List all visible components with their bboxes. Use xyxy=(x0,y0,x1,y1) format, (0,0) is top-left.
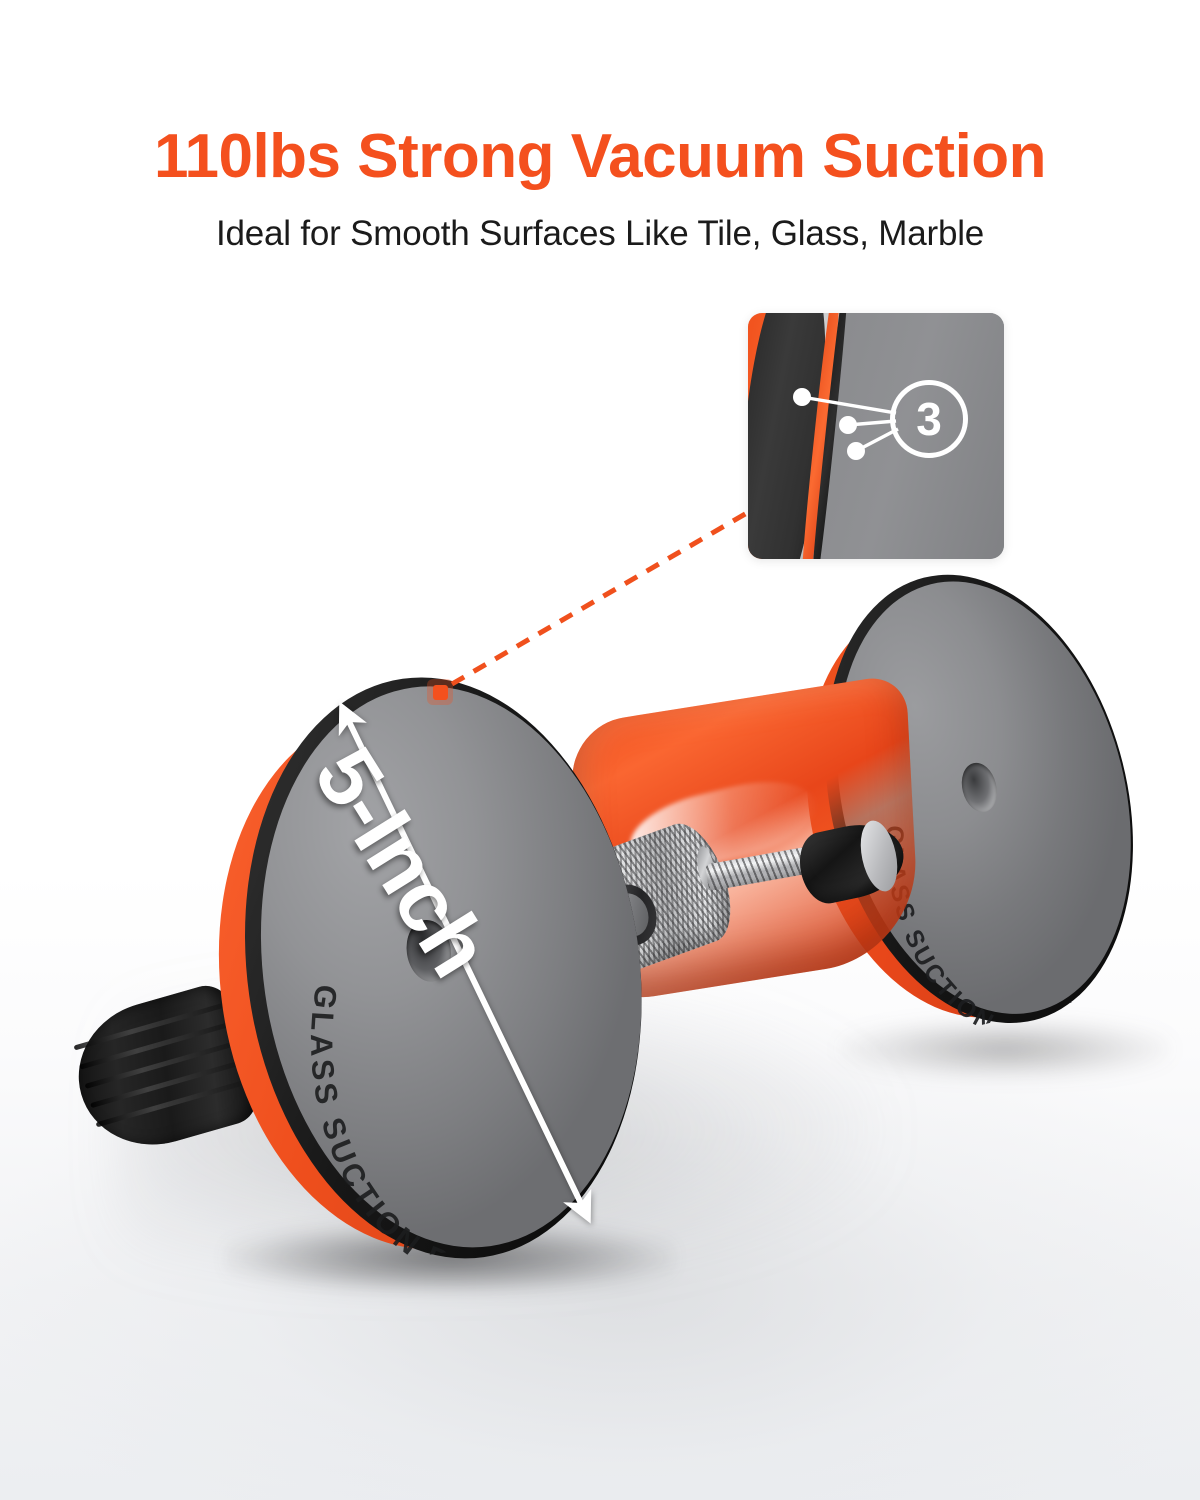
magnified-detail-callout: 3 xyxy=(748,313,1004,559)
zoom-marker-icon xyxy=(427,679,453,705)
callout-leader-lines xyxy=(748,313,1004,559)
product-illustration: GLASS SUCTION PLATE xyxy=(0,0,1200,1500)
svg-text:GLASS SUCTION PLATE: GLASS SUCTION PLATE xyxy=(293,956,542,1272)
layer-count-badge: 3 xyxy=(890,380,968,458)
product-feature-image: 110lbs Strong Vacuum Suction Ideal for S… xyxy=(0,0,1200,1500)
